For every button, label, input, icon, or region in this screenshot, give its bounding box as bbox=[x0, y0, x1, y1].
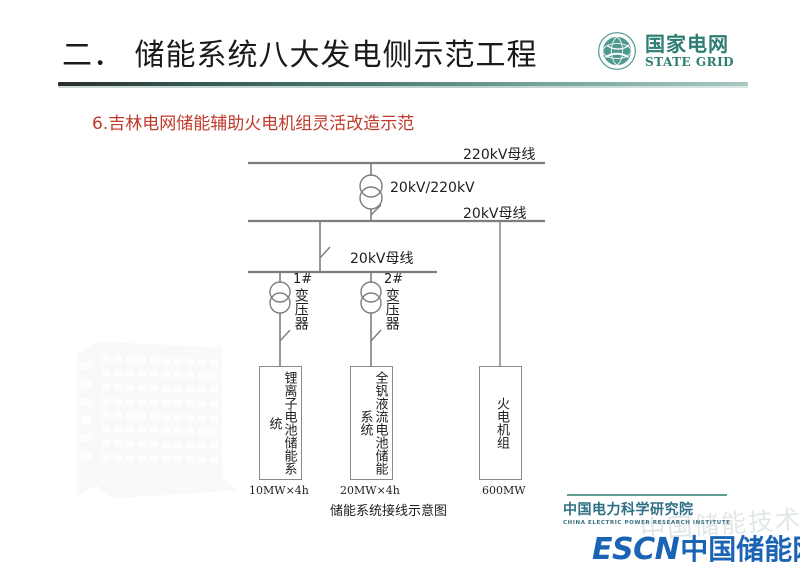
xfmr1-coil-lv bbox=[270, 293, 290, 313]
xfmr1-coil-hv bbox=[270, 282, 290, 302]
xfmr1-name: 变压器 bbox=[293, 288, 308, 330]
xfmr2-tag: 2# bbox=[384, 272, 403, 287]
busbar-20kv-lower-label: 20kV母线 bbox=[350, 248, 414, 268]
xfmr2-coil-hv bbox=[361, 282, 381, 302]
busbar-220kv-label: 220kV母线 bbox=[463, 144, 535, 164]
unit-rating-vanadium-flow-bess: 20MW×4h bbox=[340, 484, 400, 497]
xfmr1-disconnector-blade bbox=[280, 330, 290, 341]
unit-box-thermal-generator-label: 火电机组 bbox=[493, 397, 508, 449]
unit-box-lithium-bess: 锂离子电池储能系统 bbox=[259, 366, 302, 480]
state-grid-globe-icon bbox=[597, 31, 637, 71]
unit-box-vanadium-flow-bess: 全钒液流电池储能系统 bbox=[350, 366, 393, 480]
page-title: 二． 储能系统八大发电侧示范工程 bbox=[62, 30, 538, 74]
main-transformer-ratio-label: 20kV/220kV bbox=[390, 180, 475, 196]
title-divider-secondary bbox=[58, 86, 748, 88]
state-grid-logo-en: STATE GRID bbox=[645, 56, 734, 68]
background-building-watermark bbox=[22, 300, 252, 515]
xfmr1-tag: 1# bbox=[293, 272, 312, 287]
unit-box-lithium-bess-label: 锂离子电池储能系统 bbox=[266, 371, 296, 475]
tie-disconnector-blade bbox=[320, 247, 330, 258]
slide-canvas: 二． 储能系统八大发电侧示范工程 国家电网 STATE GRID 6.吉林电网储… bbox=[0, 0, 800, 562]
escn-watermark-cn: 中国储能网 bbox=[680, 528, 800, 562]
busbar-20kv-upper-label: 20kV母线 bbox=[463, 203, 527, 223]
escn-watermark-en: ESCN bbox=[592, 532, 679, 562]
unit-rating-lithium-bess: 10MW×4h bbox=[249, 484, 309, 497]
unit-rating-thermal-generator: 600MW bbox=[482, 484, 526, 497]
cepri-logo-rule bbox=[567, 494, 727, 496]
main-transformer-coil-hv bbox=[360, 175, 382, 197]
state-grid-logo: 国家电网 STATE GRID bbox=[597, 31, 734, 71]
unit-box-vanadium-flow-bess-label: 全钒液流电池储能系统 bbox=[357, 371, 387, 475]
xfmr2-name: 变压器 bbox=[384, 288, 399, 330]
main-disconnector-blade bbox=[371, 205, 381, 215]
xfmr2-disconnector-blade bbox=[371, 330, 381, 341]
section-subtitle: 6.吉林电网储能辅助火电机组灵活改造示范 bbox=[92, 109, 414, 134]
unit-box-thermal-generator: 火电机组 bbox=[479, 366, 522, 480]
escn-watermark: ESCN 中国储能网 bbox=[592, 528, 800, 562]
main-transformer-coil-lv bbox=[360, 187, 382, 209]
xfmr2-coil-lv bbox=[361, 293, 381, 313]
figure-caption: 储能系统接线示意图 bbox=[330, 500, 447, 519]
state-grid-logo-cn: 国家电网 bbox=[645, 34, 734, 54]
